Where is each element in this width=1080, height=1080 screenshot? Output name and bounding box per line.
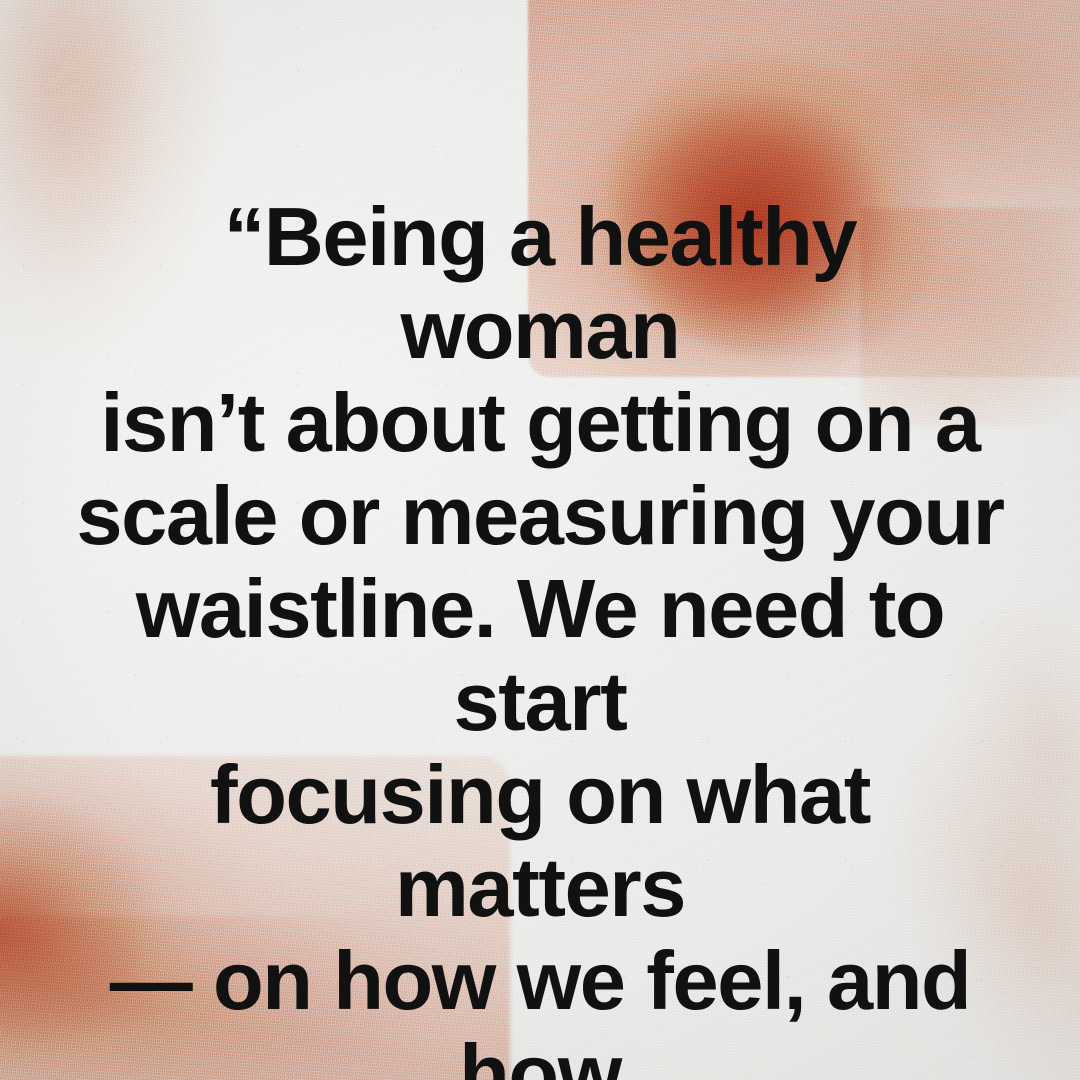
quote-card: “Being a healthy woman isn’t about getti… — [0, 0, 1080, 1080]
quote-content: “Being a healthy woman isn’t about getti… — [0, 0, 1080, 1080]
quote-text: “Being a healthy woman isn’t about getti… — [75, 190, 1005, 1080]
